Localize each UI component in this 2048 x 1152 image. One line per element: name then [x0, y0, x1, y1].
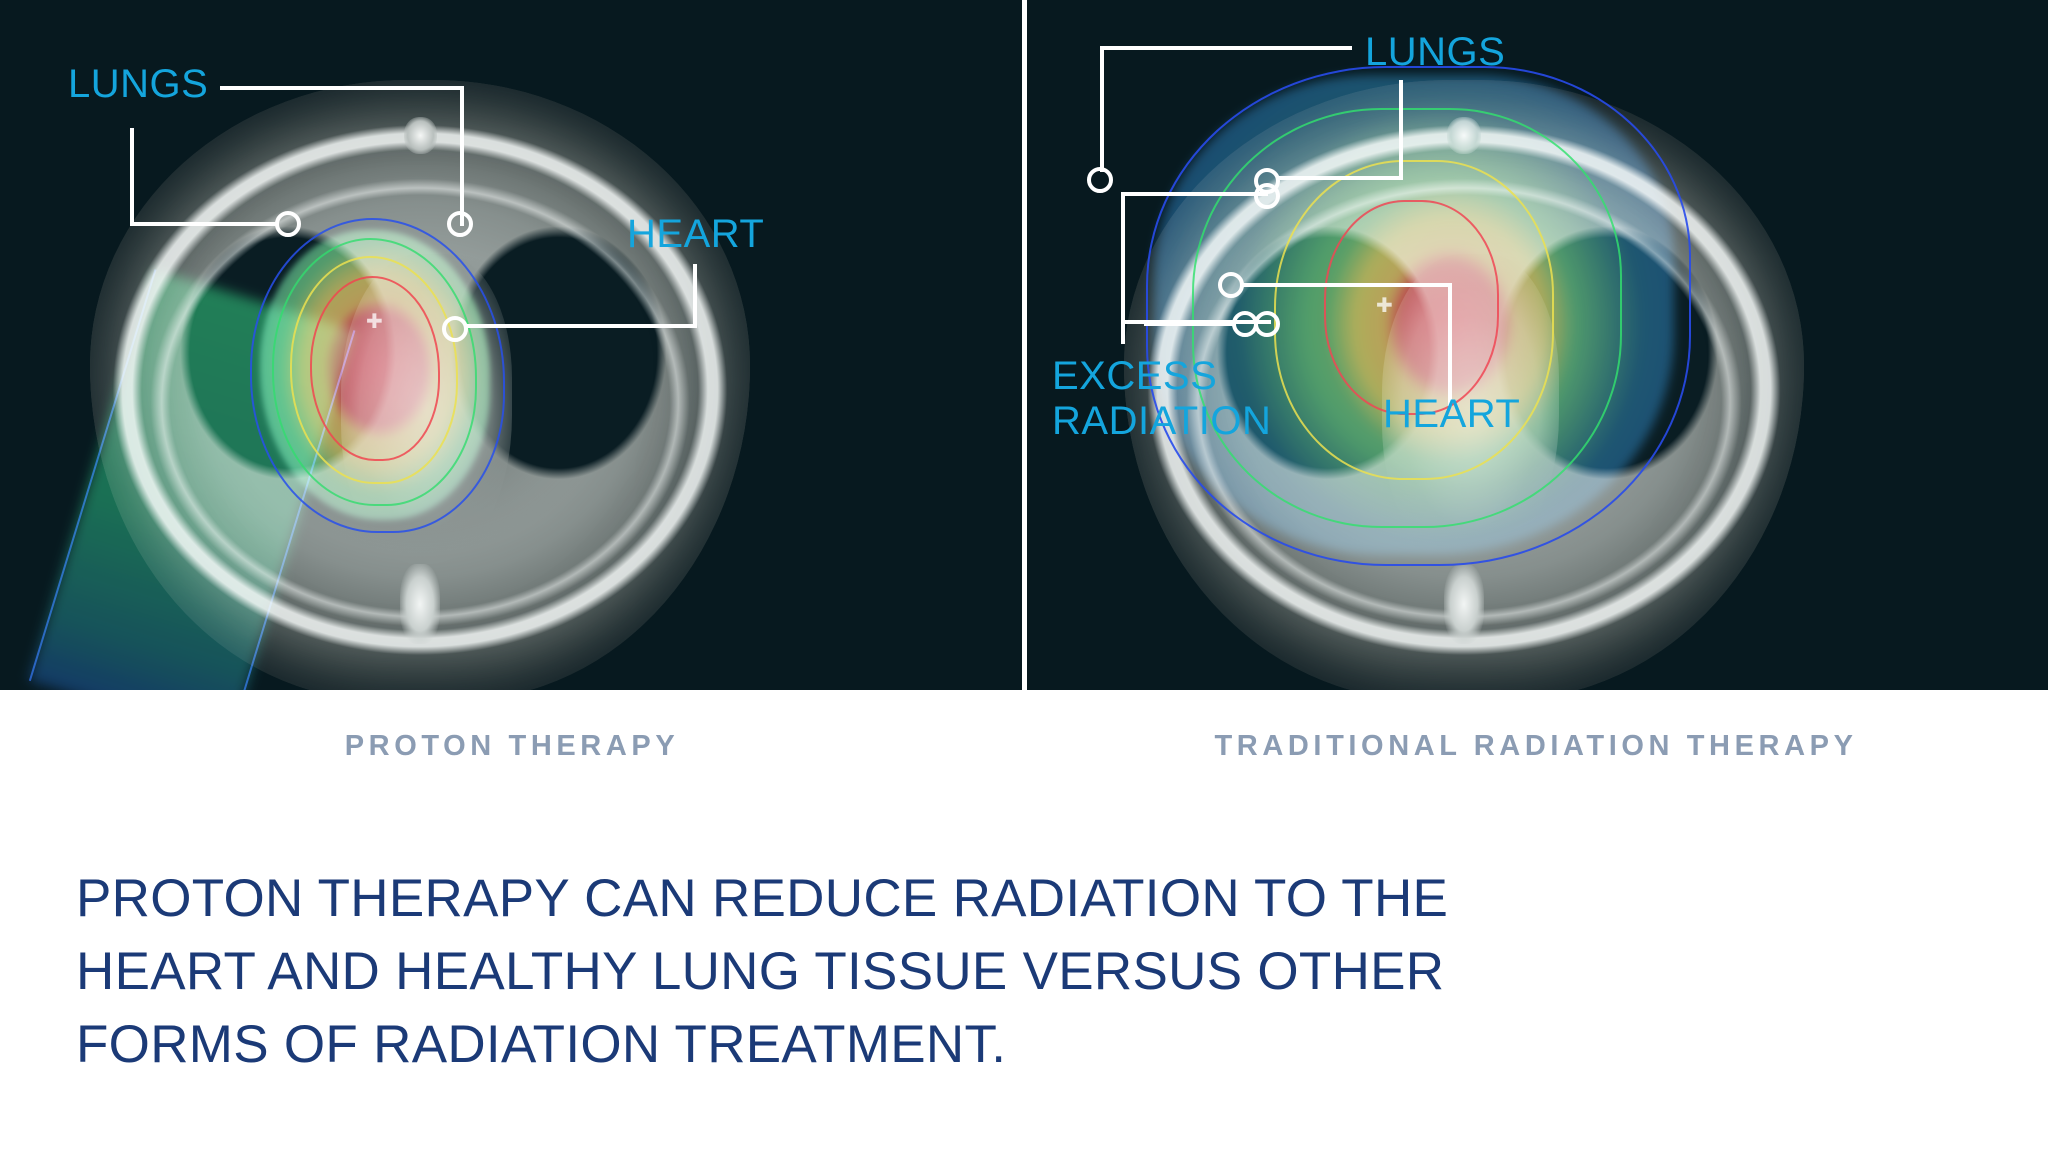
- label-excess-radiation: EXCESS RADIATION: [1052, 354, 1271, 444]
- callout-dot-lungs-center[interactable]: [1087, 167, 1113, 193]
- caption-row: PROTON THERAPY TRADITIONAL RADIATION THE…: [0, 690, 2048, 850]
- callout-dot-heart-proton[interactable]: [442, 316, 468, 342]
- spine: [400, 564, 440, 645]
- leader-lungs-proton-right-drop: [460, 86, 464, 226]
- leader-lungs-trad-top: [1100, 46, 1352, 50]
- isocenter-crosshair: ✚: [1376, 296, 1393, 316]
- callout-dot-heart-lower[interactable]: [1232, 311, 1258, 337]
- label-heart-proton: HEART: [627, 212, 764, 257]
- leader-lungs-trad-mid-drop: [1100, 46, 1104, 172]
- headline-line-2: HEART AND HEALTHY LUNG TISSUE VERSUS OTH…: [76, 935, 1856, 1008]
- label-heart-traditional: HEART: [1383, 392, 1520, 437]
- label-lungs-traditional: LUNGS: [1365, 30, 1505, 75]
- headline: PROTON THERAPY CAN REDUCE RADIATION TO T…: [76, 862, 1856, 1081]
- leader-lungs-proton-left-drop: [130, 128, 134, 225]
- callout-dot-lungs-left[interactable]: [275, 211, 301, 237]
- callout-dot-heart-upper[interactable]: [1218, 272, 1244, 298]
- caption-proton-therapy: PROTON THERAPY: [0, 730, 1024, 763]
- headline-line-1: PROTON THERAPY CAN REDUCE RADIATION TO T…: [76, 862, 1856, 935]
- isodose-contour-red: [1324, 200, 1499, 415]
- leader-lungs-proton-left-run: [130, 222, 276, 226]
- leader-heart-trad-upper-run: [1242, 283, 1452, 287]
- leader-heart-proton-run: [466, 324, 697, 328]
- leader-heart-trad-drop: [1448, 283, 1452, 406]
- spine: [1444, 564, 1485, 645]
- panel-proton-therapy: ✚ LUNGS HEART: [0, 0, 1024, 690]
- leader-excess-top-run: [1121, 192, 1268, 196]
- leader-lungs-trad-right-drop: [1399, 80, 1403, 180]
- panel-traditional-radiation-therapy: ✚ LUNGS EXCESS RADIATION HEART: [1024, 0, 2048, 690]
- sternum: [404, 117, 437, 154]
- caption-traditional-radiation-therapy: TRADITIONAL RADIATION THERAPY: [1024, 730, 2048, 763]
- callout-dot-excess-upper[interactable]: [1254, 183, 1280, 209]
- leader-heart-trad-lower-run: [1144, 322, 1236, 326]
- scan-comparison-area: ✚ LUNGS HEART: [0, 0, 2048, 690]
- leader-lungs-proton-top: [220, 86, 464, 90]
- leader-lungs-trad-right-run: [1277, 176, 1403, 180]
- callout-dot-lungs-right[interactable]: [447, 211, 473, 237]
- ct-image-traditional: ✚: [1024, 0, 2048, 690]
- isocenter-crosshair: ✚: [366, 312, 383, 332]
- headline-line-3: FORMS OF RADIATION TREATMENT.: [76, 1008, 1856, 1081]
- panel-divider: [1022, 0, 1027, 690]
- label-lungs-proton: LUNGS: [68, 62, 208, 107]
- leader-heart-proton-drop: [693, 264, 697, 326]
- infographic-root: ✚ LUNGS HEART: [0, 0, 2048, 1152]
- isodose-contour-red: [310, 276, 440, 461]
